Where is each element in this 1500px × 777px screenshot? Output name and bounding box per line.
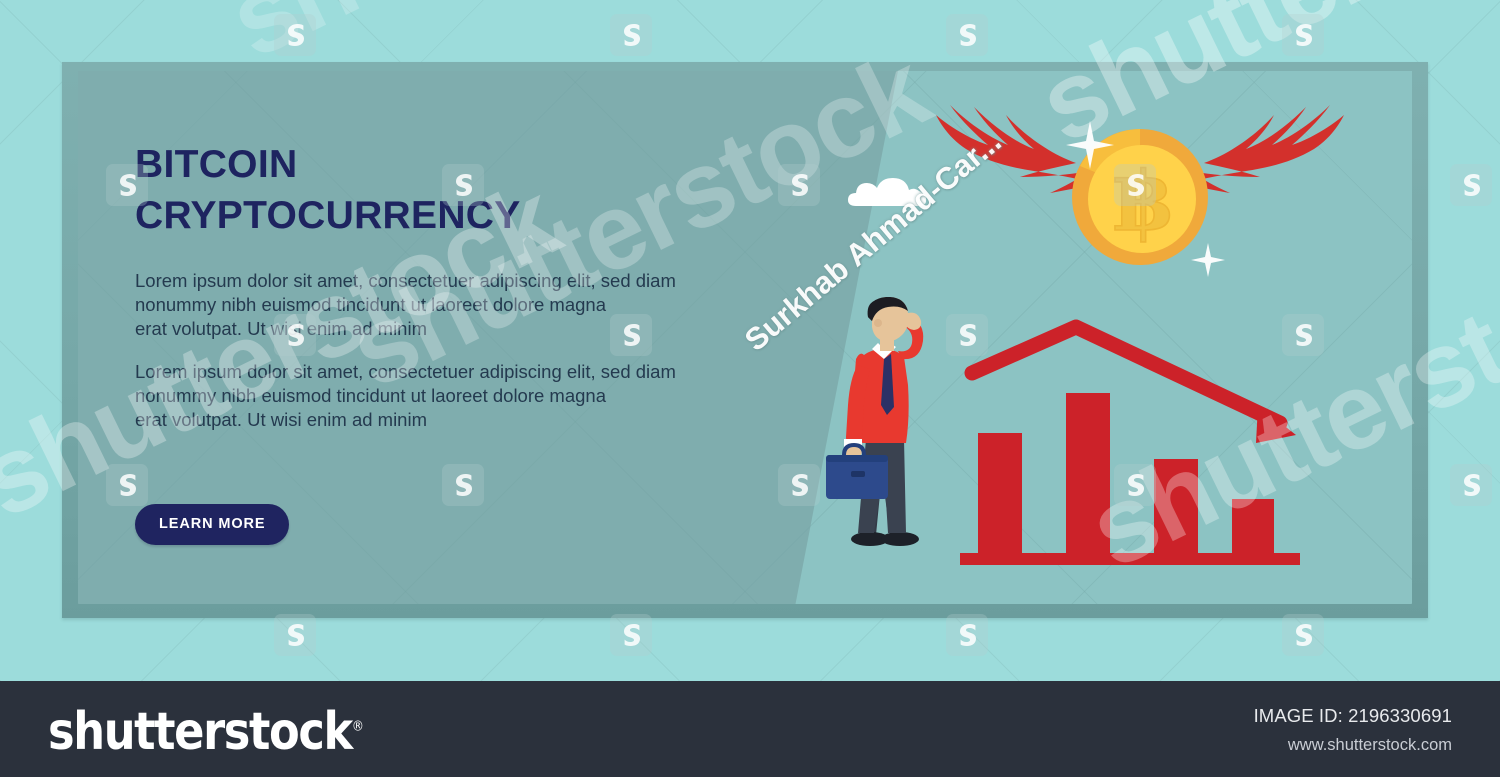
body-paragraph-2: Lorem ipsum dolor sit amet, consectetuer…	[135, 360, 755, 432]
banner-panel: BITCOIN CRYPTOCURRENCY Lorem ipsum dolor…	[78, 71, 1412, 604]
bitcoin-symbol: ฿	[1113, 154, 1170, 250]
sparkle-icon	[1191, 243, 1225, 277]
shutterstock-logo: shutterstock®	[48, 702, 363, 762]
banner-frame: BITCOIN CRYPTOCURRENCY Lorem ipsum dolor…	[62, 62, 1428, 618]
banner-copy-block: BITCOIN CRYPTOCURRENCY Lorem ipsum dolor…	[135, 139, 755, 545]
shutterstock-s-icon	[1450, 464, 1492, 506]
body-paragraph-1: Lorem ipsum dolor sit amet, consectetuer…	[135, 269, 755, 341]
shutterstock-s-icon	[610, 14, 652, 56]
chart-bar	[1232, 499, 1274, 555]
chart-bar	[978, 433, 1022, 555]
registered-mark: ®	[352, 719, 363, 735]
shoe-right	[881, 532, 919, 546]
cloud-icon	[848, 174, 932, 208]
shutterstock-s-icon	[946, 14, 988, 56]
worried-businessman	[824, 297, 944, 567]
shutterstock-s-icon	[610, 614, 652, 656]
shutterstock-s-icon	[946, 614, 988, 656]
shutterstock-s-icon	[1282, 14, 1324, 56]
shutterstock-s-icon	[274, 14, 316, 56]
stock-preview-canvas: BITCOIN CRYPTOCURRENCY Lorem ipsum dolor…	[0, 0, 1500, 681]
chart-bar	[1066, 393, 1110, 555]
shutterstock-s-icon	[274, 614, 316, 656]
learn-more-button[interactable]: LEARN MORE	[135, 504, 289, 545]
ear	[874, 319, 882, 327]
shutterstock-logo-text: shutterstock	[48, 702, 352, 762]
shutterstock-s-icon	[1282, 614, 1324, 656]
trend-line	[972, 327, 1280, 423]
trend-arrow-head	[1256, 405, 1296, 443]
website-label: www.shutterstock.com	[1288, 736, 1452, 755]
image-id-label: IMAGE ID: 2196330691	[1254, 705, 1452, 727]
bitcoin-coin-with-wings: ฿	[930, 93, 1350, 301]
declining-bar-chart	[960, 301, 1340, 571]
page-title: BITCOIN CRYPTOCURRENCY	[135, 139, 755, 242]
footer-bar: shutterstock® IMAGE ID: 2196330691 www.s…	[0, 681, 1500, 777]
chart-bar	[1154, 459, 1198, 555]
shutterstock-s-icon	[1450, 164, 1492, 206]
